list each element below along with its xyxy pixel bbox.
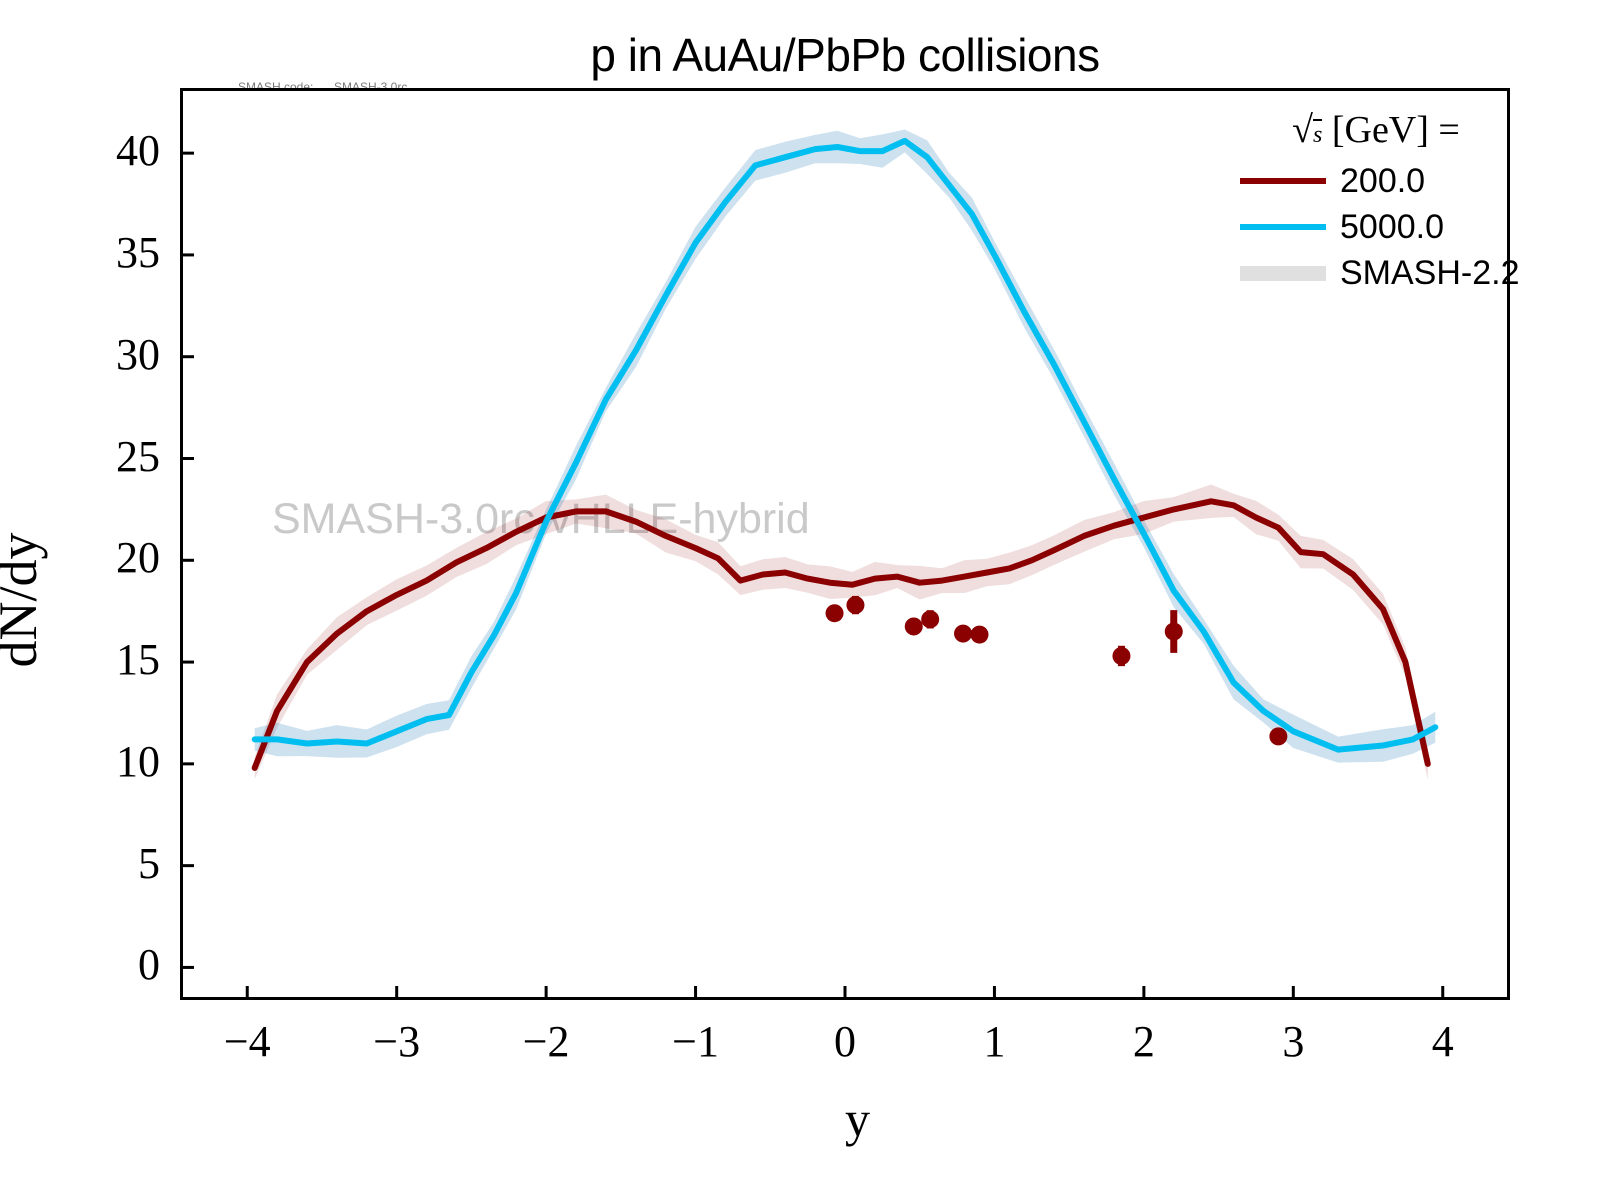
legend-swatch-icon bbox=[1240, 266, 1326, 281]
x-tick-label: 1 bbox=[949, 1016, 1039, 1067]
y-tick-label: 5 bbox=[90, 838, 160, 889]
legend: √s [GeV] = 200.05000.0SMASH-2.2 bbox=[1240, 108, 1512, 296]
legend-item[interactable]: 5000.0 bbox=[1240, 204, 1512, 250]
y-tick-label: 30 bbox=[90, 329, 160, 380]
x-tick-label: −1 bbox=[651, 1016, 741, 1067]
y-tick-label: 10 bbox=[90, 736, 160, 787]
chart-page: SMASH code:SMASH-3.0rc SMASH analysis:SM… bbox=[0, 0, 1600, 1200]
legend-swatch-icon bbox=[1240, 178, 1326, 184]
x-tick-label: 2 bbox=[1099, 1016, 1189, 1067]
legend-title: √s [GeV] = bbox=[1240, 108, 1512, 152]
x-tick-label: 0 bbox=[800, 1016, 890, 1067]
y-tick-label: 40 bbox=[90, 125, 160, 176]
y-tick-label: 20 bbox=[90, 532, 160, 583]
legend-title-s: s bbox=[1313, 119, 1322, 148]
y-axis-label: dN/dy bbox=[0, 533, 49, 668]
legend-item-label: 200.0 bbox=[1340, 162, 1425, 201]
page-title: p in AuAu/PbPb collisions bbox=[180, 28, 1510, 82]
x-tick-label: −4 bbox=[202, 1016, 292, 1067]
x-tick-label: 3 bbox=[1248, 1016, 1338, 1067]
y-tick-label: 0 bbox=[90, 939, 160, 990]
x-tick-label: −2 bbox=[501, 1016, 591, 1067]
legend-item-label: SMASH-2.2 bbox=[1340, 254, 1520, 293]
y-tick-label: 15 bbox=[90, 634, 160, 685]
y-tick-label: 25 bbox=[90, 431, 160, 482]
legend-item[interactable]: 200.0 bbox=[1240, 158, 1512, 204]
x-tick-label: 4 bbox=[1398, 1016, 1488, 1067]
x-tick-label: −3 bbox=[352, 1016, 442, 1067]
legend-title-units: [GeV] = bbox=[1332, 109, 1460, 151]
y-tick-label: 35 bbox=[90, 227, 160, 278]
legend-item-label: 5000.0 bbox=[1340, 208, 1444, 247]
legend-item[interactable]: SMASH-2.2 bbox=[1240, 250, 1512, 296]
watermark-text: SMASH-3.0rc-vHLLE-hybrid bbox=[272, 495, 810, 544]
legend-swatch-icon bbox=[1240, 224, 1326, 230]
legend-rows: 200.05000.0SMASH-2.2 bbox=[1240, 158, 1512, 296]
x-axis-label: y bbox=[845, 1090, 870, 1148]
sqrt-icon: √ bbox=[1292, 109, 1313, 151]
